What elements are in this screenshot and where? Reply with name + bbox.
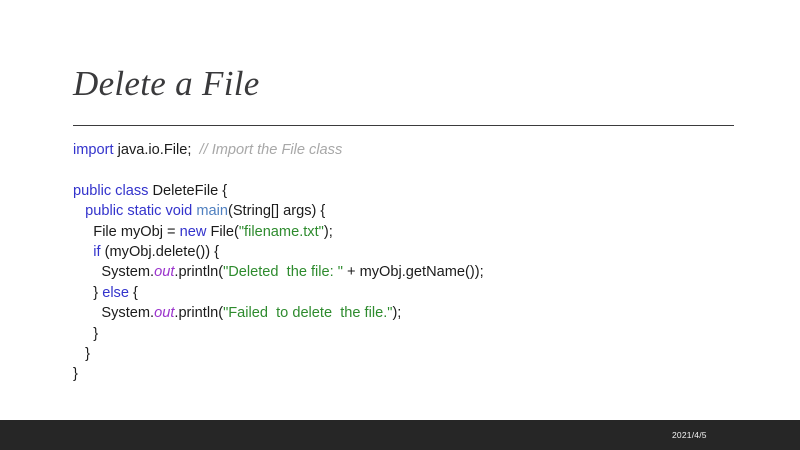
- code-token-plain: );: [324, 224, 333, 240]
- code-token-plain: );: [392, 305, 401, 321]
- code-token-plain: [73, 203, 85, 219]
- code-line: System.out.println("Failed to delete the…: [73, 303, 773, 323]
- code-token-field: out: [154, 305, 174, 321]
- code-token-keyword: public static void: [85, 203, 196, 219]
- code-token-field: out: [154, 264, 174, 280]
- code-line: if (myObj.delete()) {: [73, 242, 773, 262]
- page-title: Delete a File: [73, 62, 735, 106]
- code-line: [73, 160, 773, 180]
- title-divider: [73, 125, 734, 126]
- code-token-keyword: if: [93, 244, 100, 260]
- title-block: Delete a File: [73, 62, 735, 106]
- code-line: public class DeleteFile {: [73, 181, 773, 201]
- code-line: System.out.println("Deleted the file: " …: [73, 262, 773, 282]
- code-token-plain: .println(: [174, 305, 223, 321]
- code-line: }: [73, 364, 773, 384]
- code-line: File myObj = new File("filename.txt");: [73, 222, 773, 242]
- code-token-keyword: new: [180, 224, 207, 240]
- code-token-plain: }: [73, 326, 98, 342]
- code-token-plain: (String[] args) {: [228, 203, 325, 219]
- code-token-plain: File(: [206, 224, 238, 240]
- code-token-string: "Failed to delete the file.": [223, 305, 392, 321]
- code-token-plain: (myObj.delete()) {: [101, 244, 219, 260]
- code-token-plain: }: [73, 285, 102, 301]
- code-token-plain: System.: [73, 264, 154, 280]
- code-listing: import java.io.File; // Import the File …: [73, 140, 773, 385]
- code-token-plain: File myObj =: [73, 224, 180, 240]
- code-token-plain: + myObj.getName());: [343, 264, 484, 280]
- code-line: }: [73, 324, 773, 344]
- code-token-plain: DeleteFile {: [148, 183, 227, 199]
- code-token-string: "Deleted the file: ": [223, 264, 343, 280]
- code-token-plain: }: [73, 346, 90, 362]
- code-token-string: "filename.txt": [239, 224, 324, 240]
- code-token-function: main: [196, 203, 228, 219]
- code-token-plain: java.io.File;: [118, 142, 192, 158]
- code-token-comment: // Import the File class: [200, 142, 343, 158]
- code-token-plain: System.: [73, 305, 154, 321]
- code-line: } else {: [73, 283, 773, 303]
- code-line: import java.io.File; // Import the File …: [73, 140, 773, 160]
- code-token-keyword: import: [73, 142, 114, 158]
- code-token-plain: .println(: [174, 264, 223, 280]
- code-token-keyword: else: [102, 285, 129, 301]
- code-token-plain: [73, 244, 93, 260]
- code-token-keyword: public class: [73, 183, 148, 199]
- code-line: }: [73, 344, 773, 364]
- slide-canvas: Delete a File import java.io.File; // Im…: [0, 0, 800, 450]
- code-token-plain: [191, 142, 199, 158]
- code-line: public static void main(String[] args) {: [73, 201, 773, 221]
- footer-date: 2021/4/5: [672, 430, 707, 440]
- code-token-plain: {: [129, 285, 138, 301]
- code-token-plain: }: [73, 366, 78, 382]
